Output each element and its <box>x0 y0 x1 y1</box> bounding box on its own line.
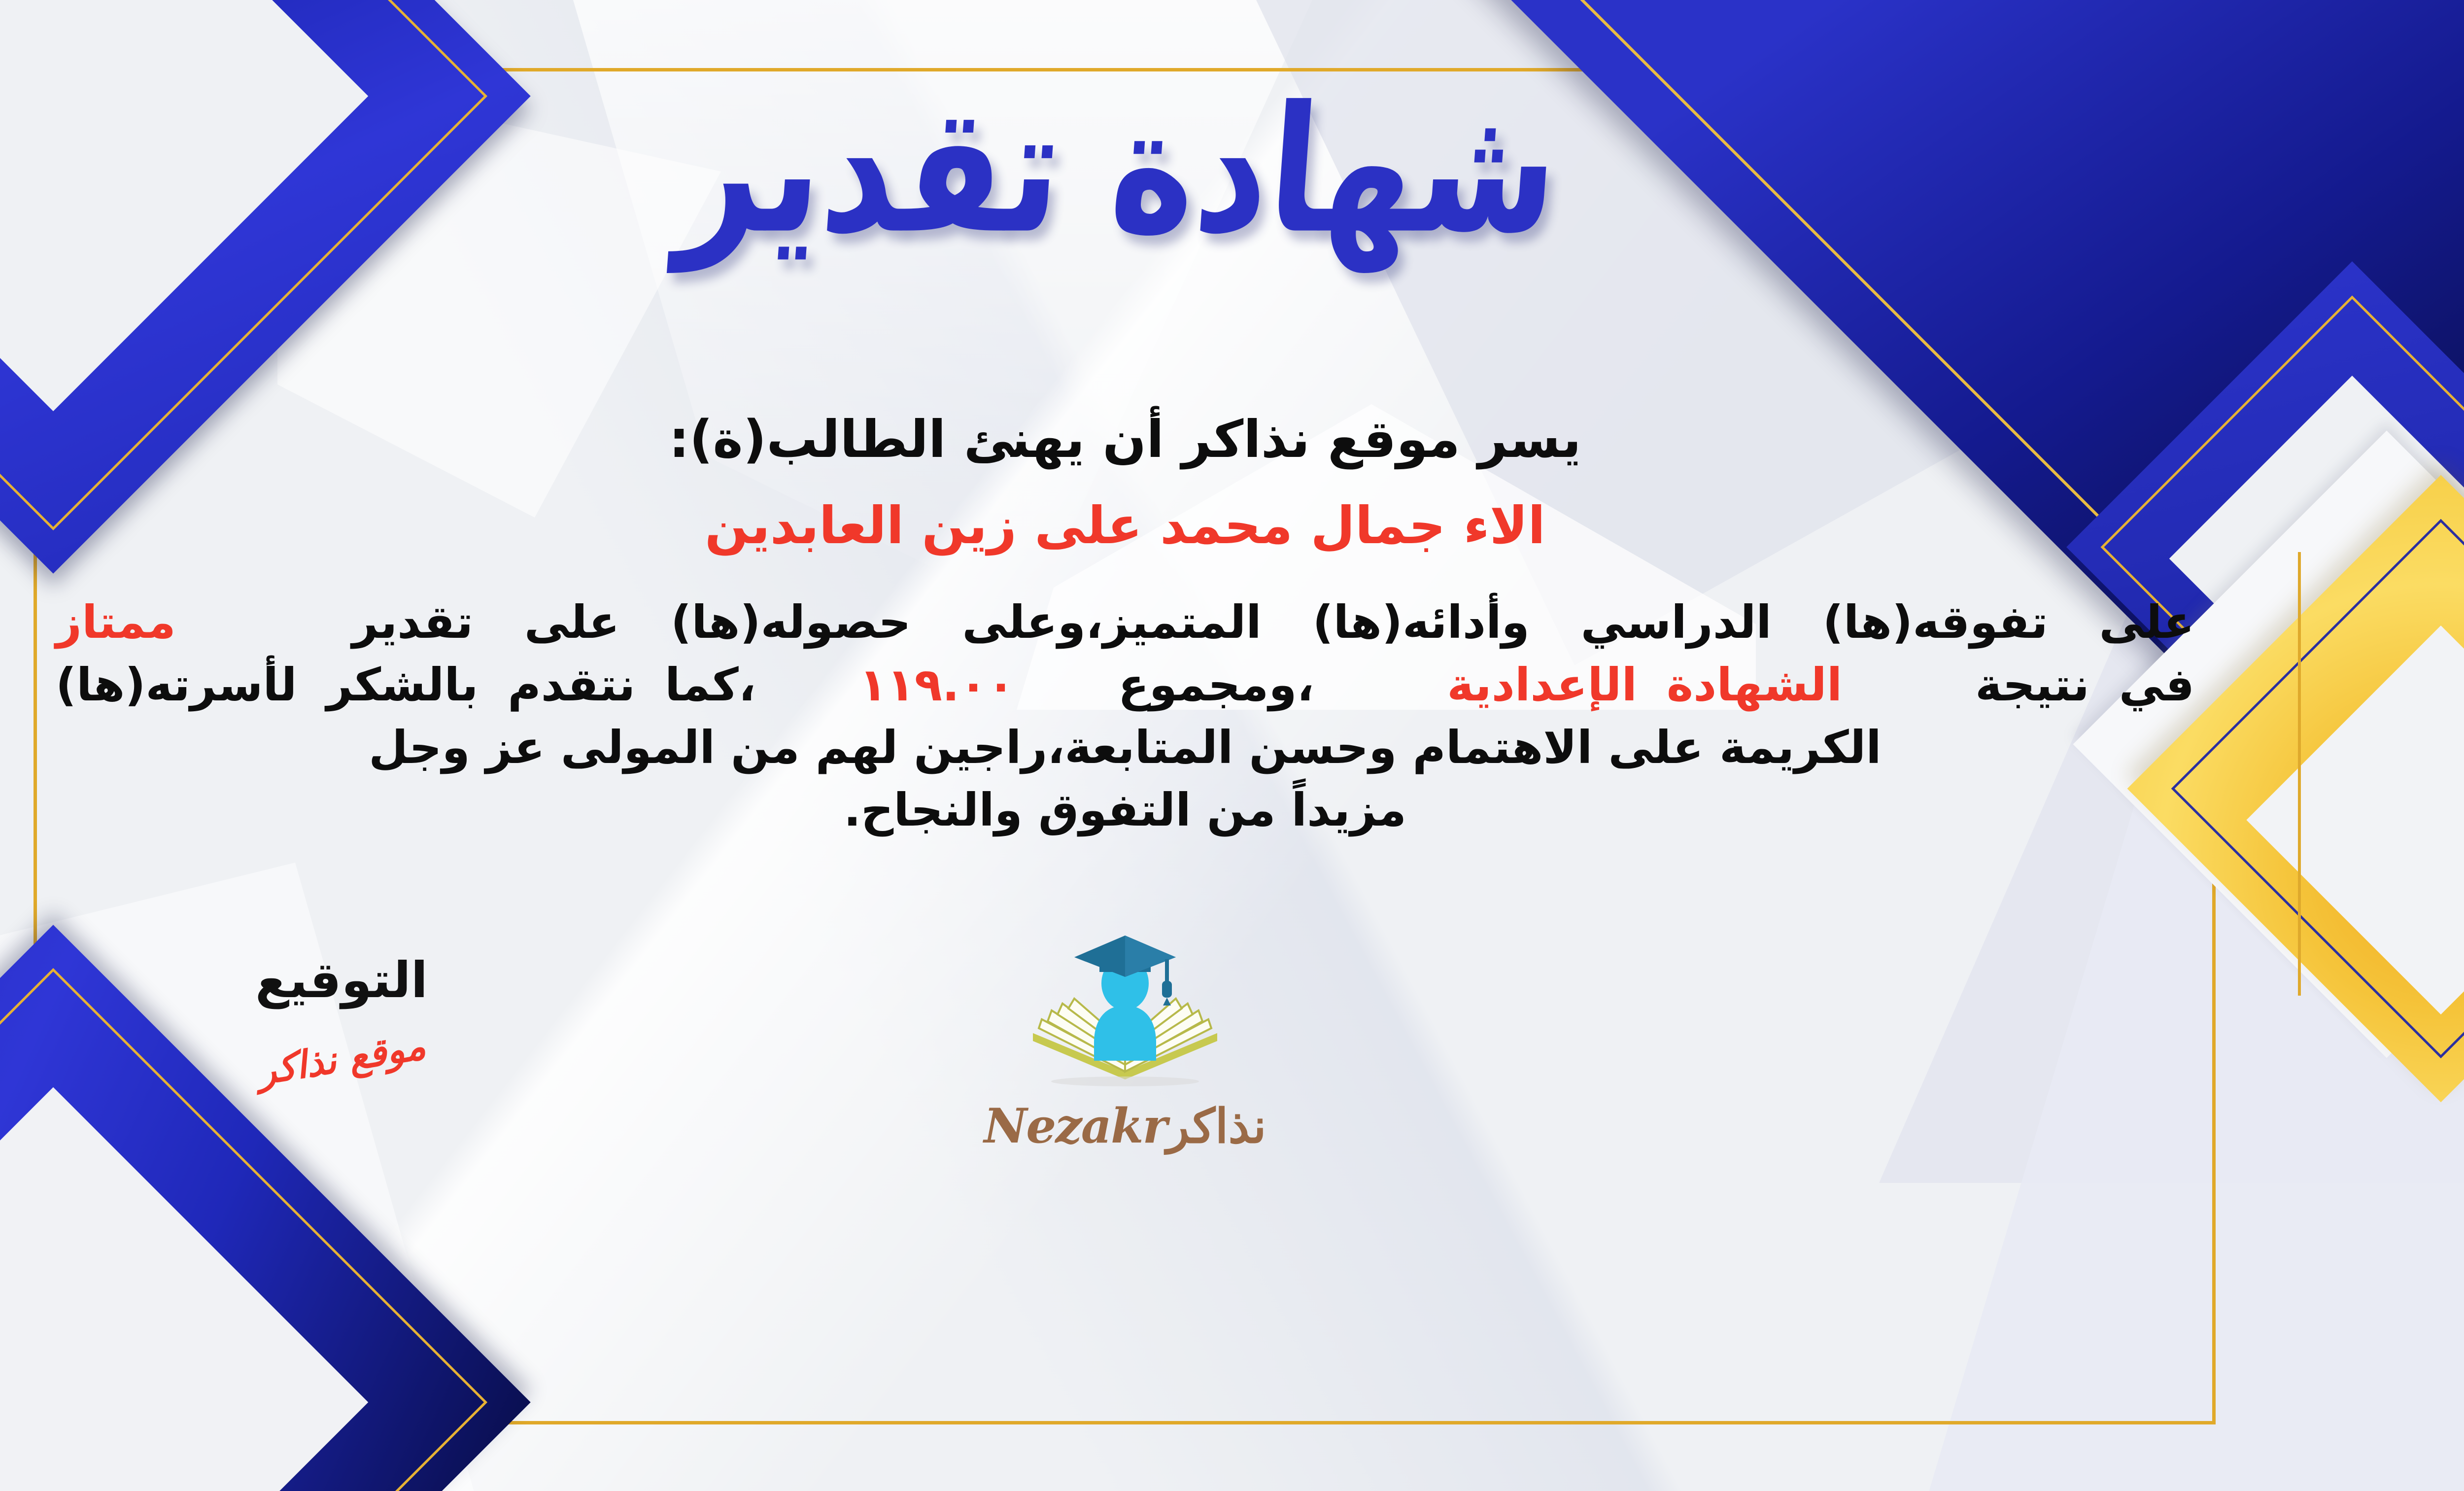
logo-mark <box>1019 932 1231 1104</box>
body-line-1-text: على تفوقه(ها) الدراسي وأدائه(ها) المتميز… <box>352 596 2194 649</box>
body-line-2-prefix: في نتيجة <box>1975 659 2194 711</box>
body-line-2-suffix: ،كما نتقدم بالشكر لأسرته(ها) <box>56 659 756 711</box>
certificate-content: شهادة تقدير يسر موقع نذاكر أن يهنئ الطال… <box>41 74 2209 1420</box>
logo-arabic-text: نذاكر <box>1166 1098 1266 1154</box>
body-line-2: في نتيجة الشهادة الإعدادية ،ومجموع ١١٩.٠… <box>56 654 2194 717</box>
grade-value: ممتاز <box>56 596 176 649</box>
body-line-4: مزيداً من التفوق والنجاح. <box>56 779 2194 842</box>
signature-block: التوقيع موقع نذاكر <box>154 951 529 1080</box>
total-score-value: ١١٩.٠٠ <box>859 659 1015 711</box>
body-line-1: على تفوقه(ها) الدراسي وأدائه(ها) المتميز… <box>56 591 2194 654</box>
salutation-text: يسر موقع نذاكر أن يهنئ الطالب(ة): <box>41 409 2209 469</box>
signature-handwriting: موقع نذاكر <box>254 1024 428 1094</box>
certificate-canvas: شهادة تقدير يسر موقع نذاكر أن يهنئ الطال… <box>0 0 2464 1491</box>
body-line-2-total-label: ،ومجموع <box>1118 659 1314 711</box>
body-line-3: الكريمة على الاهتمام وحسن المتابعة،راجين… <box>56 717 2194 779</box>
brand-logo: نذاكرNezakr <box>938 932 1312 1154</box>
signature-label: التوقيع <box>154 951 529 1009</box>
logo-graphic <box>1019 932 1231 1104</box>
student-name: الاء جمال محمد على زين العابدين <box>41 495 2209 555</box>
exam-name: الشهادة الإعدادية <box>1447 659 1842 711</box>
certificate-body: على تفوقه(ها) الدراسي وأدائه(ها) المتميز… <box>56 591 2194 842</box>
logo-wordmark: نذاكرNezakr <box>938 1098 1312 1154</box>
logo-latin-text: Nezakr <box>984 1098 1166 1154</box>
certificate-title: شهادة تقدير <box>29 84 2209 258</box>
